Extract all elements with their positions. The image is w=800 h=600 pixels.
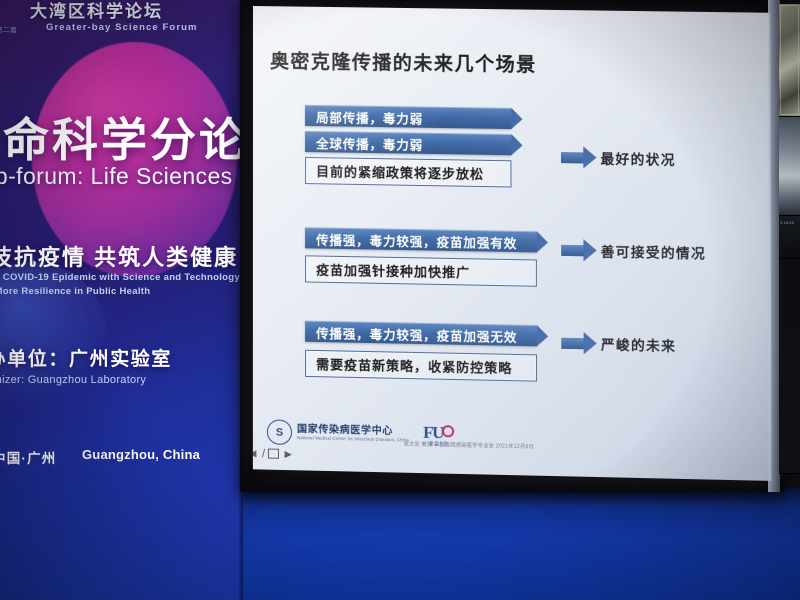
banner-location-cn: 中国·广州 <box>0 447 57 467</box>
banner-location-en: Guangzhou, China <box>82 447 200 462</box>
conference-banner: 大湾区科学论坛 Greater-bay Science Forum 第二届 生命… <box>0 0 243 600</box>
banner-organizer-en: Organizer: Guangzhou Laboratory <box>0 374 146 386</box>
outcome-label: 严峻的未来 <box>601 333 676 355</box>
scenario-group-3: 传播强，毒力较强，疫苗加强无效 需要疫苗新策略，收紧防控策略 <box>305 321 537 382</box>
banner-header-edition: 第二届 <box>0 24 17 34</box>
banner-title-en: Sub-forum: Life Sciences <box>0 163 243 190</box>
banner-header: 大湾区科学论坛 Greater-bay Science Forum 第二届 <box>0 2 243 33</box>
stage-backdrop-blue <box>243 488 800 600</box>
all-slides-icon[interactable] <box>268 449 279 459</box>
logo1-text: 国家传染病医学中心 National Medical Center for In… <box>297 424 409 444</box>
arrow-right-icon <box>561 244 583 256</box>
scenario-box: 疫苗加强针接种加快推广 <box>305 255 537 286</box>
outcome-label: 善可接受的情况 <box>601 240 706 262</box>
banner-title-cn: 生命科学分论坛 <box>0 104 243 170</box>
scenario-box: 目前的紧缩政策将逐步放松 <box>305 157 511 188</box>
banner-header-en: Greater-bay Science Forum <box>46 22 243 33</box>
banner-subtitle-cn: 科技抗疫情 共筑人类健康 <box>0 240 243 272</box>
fudan-logo-letters: FU <box>423 422 443 442</box>
fudan-logo-icon: FU <box>423 424 454 440</box>
banner-subtitle-en-line1: Fighting COVID-19 Epidemic with Science … <box>0 272 240 283</box>
scenario-outcome-3: 严峻的未来 <box>561 333 676 355</box>
fudan-logo-dot-icon <box>442 425 454 437</box>
next-slide-icon[interactable]: ► <box>282 448 294 460</box>
scenario-outcome-1: 最好的状况 <box>561 147 676 169</box>
arrow-right-icon <box>561 152 583 163</box>
infectious-disease-center-logo-icon: S <box>267 419 292 445</box>
banner-header-cn: 大湾区科学论坛 <box>30 2 243 21</box>
banner-subtitle-en-line2: for More Resilience in Public Health <box>0 286 150 297</box>
video-tile-audience[interactable] <box>779 117 800 216</box>
slide-credit-line: 张文宏 教授 中国医院感染医学专业会 2021年12月9日 <box>404 440 534 450</box>
scenario-chevron: 传播强，毒力较强，疫苗加强有效 <box>305 227 537 252</box>
scenario-chevron: 传播强，毒力较强，疫苗加强无效 <box>305 321 537 347</box>
video-tile-participant-grid[interactable] <box>779 4 800 117</box>
outcome-label: 最好的状况 <box>601 148 676 169</box>
video-tile-dark[interactable]: 3:18:05 <box>779 216 800 259</box>
scenario-group-2: 传播强，毒力较强，疫苗加强有效 疫苗加强针接种加快推广 <box>305 227 537 287</box>
scenario-outcome-2: 善可接受的情况 <box>561 240 706 263</box>
banner-orb-blue <box>0 262 108 412</box>
scenario-box: 需要疫苗新策略，收紧防控策略 <box>305 350 537 382</box>
meeting-timestamp: 3:18:05 <box>780 220 794 225</box>
slide-title: 奥密克隆传播的未来几个场景 <box>270 46 537 77</box>
slideshow-nav-controls[interactable]: ◄ / ► <box>253 447 294 460</box>
banner-organizer-cn: 承办单位：广州实验室 <box>0 344 172 371</box>
logo1-name-en: National Medical Center for Infectious D… <box>297 435 409 443</box>
scenario-chevron: 局部传播，毒力弱 <box>305 105 511 129</box>
video-participant-strip: 3:18:05 <box>779 4 800 474</box>
scenario-chevron: 全球传播，毒力弱 <box>305 131 511 155</box>
video-tile-empty <box>779 259 800 474</box>
scenario-group-1: 局部传播，毒力弱 全球传播，毒力弱 目前的紧缩政策将逐步放松 <box>305 105 511 188</box>
photo-of-conference-screen: 大湾区科学论坛 Greater-bay Science Forum 第二届 生命… <box>0 0 800 600</box>
previous-slide-icon[interactable]: ◄ <box>253 447 259 459</box>
presentation-slide: 奥密克隆传播的未来几个场景 局部传播，毒力弱 全球传播，毒力弱 目前的紧缩政策将… <box>253 6 772 481</box>
arrow-right-icon <box>561 337 583 349</box>
pen-tool-icon[interactable]: / <box>262 447 265 459</box>
